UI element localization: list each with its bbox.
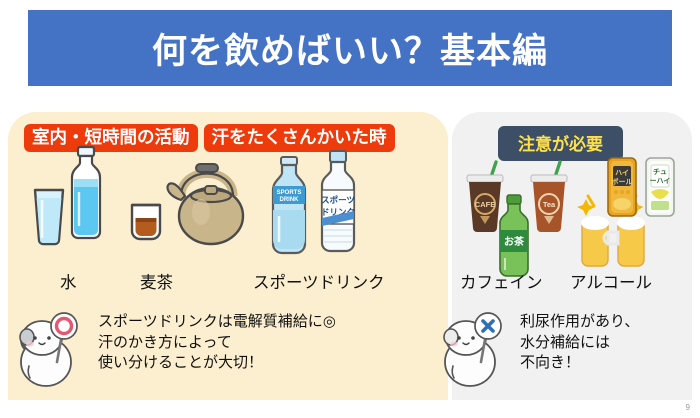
item-label-alcohol: アルコール [570,269,652,293]
chuhai-can-label-line2: ーハイ [650,177,671,185]
left-note-text: スポーツドリンクは電解質補給に◎ 汗のかき方によって 使い分けることが大切！ [98,312,336,374]
highball-can-label-line1: ハイ [615,169,629,177]
slide: 何を飲めばいい？基本編 室内・短時間の活動 汗をたくさんかいた時 [0,0,700,418]
sports-drink-pet-bottle-icon: スポーツ ドリンク [316,150,360,258]
item-label-barley-tea: 麦茶 [140,269,173,293]
page-title: 何を飲めばいい？基本編 [152,23,548,74]
badge-indoor-short-activity: 室内・短時間の活動 [24,124,198,152]
sports-drink-bottle-icon: SPORTS DRINK [266,156,312,258]
caution-drinks-panel: 注意が必要 CAFE Tea [452,112,692,400]
chuhai-can-icon: チュ ーハイ [644,156,676,218]
hamster-mascot-ok-icon [16,304,94,388]
left-note: スポーツドリンクは電解質補給に◎ 汗のかき方によって 使い分けることが大切！ [16,304,336,388]
right-note-text: 利尿作用があり、 水分補給には 不向き！ [520,312,639,374]
badge-caution-required: 注意が必要 [498,126,623,161]
recommended-drinks-panel: 室内・短時間の活動 汗をたくさんかいた時 水 [8,112,448,400]
green-tea-bottle-icon: お茶 [496,194,532,278]
water-bottle-icon [66,146,106,246]
sports-drink-label-line2: DRINK [280,197,300,203]
badge-heavy-sweating: 汗をたくさんかいた時 [204,124,395,152]
item-label-water: 水 [60,269,77,293]
slide-title-bar: 何を飲めばいい？基本編 [28,10,672,86]
hamster-mascot-ng-icon [440,304,516,388]
coffee-cup-label: CAFE [475,200,495,209]
highball-can-label-line2: ボール [612,177,633,186]
tea-cup-icon [126,199,166,245]
page-number: 9 [686,403,690,412]
kettle-icon [163,152,253,248]
item-label-caffeine: カフェイン [460,269,543,293]
sports-drink-label-line1: SPORTS [277,190,302,196]
chuhai-can-label-line1: チュ [653,168,667,176]
right-note: 利尿作用があり、 水分補給には 不向き！ [440,304,639,388]
sports-drink-jp-label-line1: スポーツ [321,195,355,205]
item-label-sports-drink: スポーツドリンク [253,269,385,293]
tea-cup-label: Tea [543,200,556,209]
highball-can-icon: ハイ ボール [606,156,638,218]
green-tea-bottle-label: お茶 [504,235,525,248]
